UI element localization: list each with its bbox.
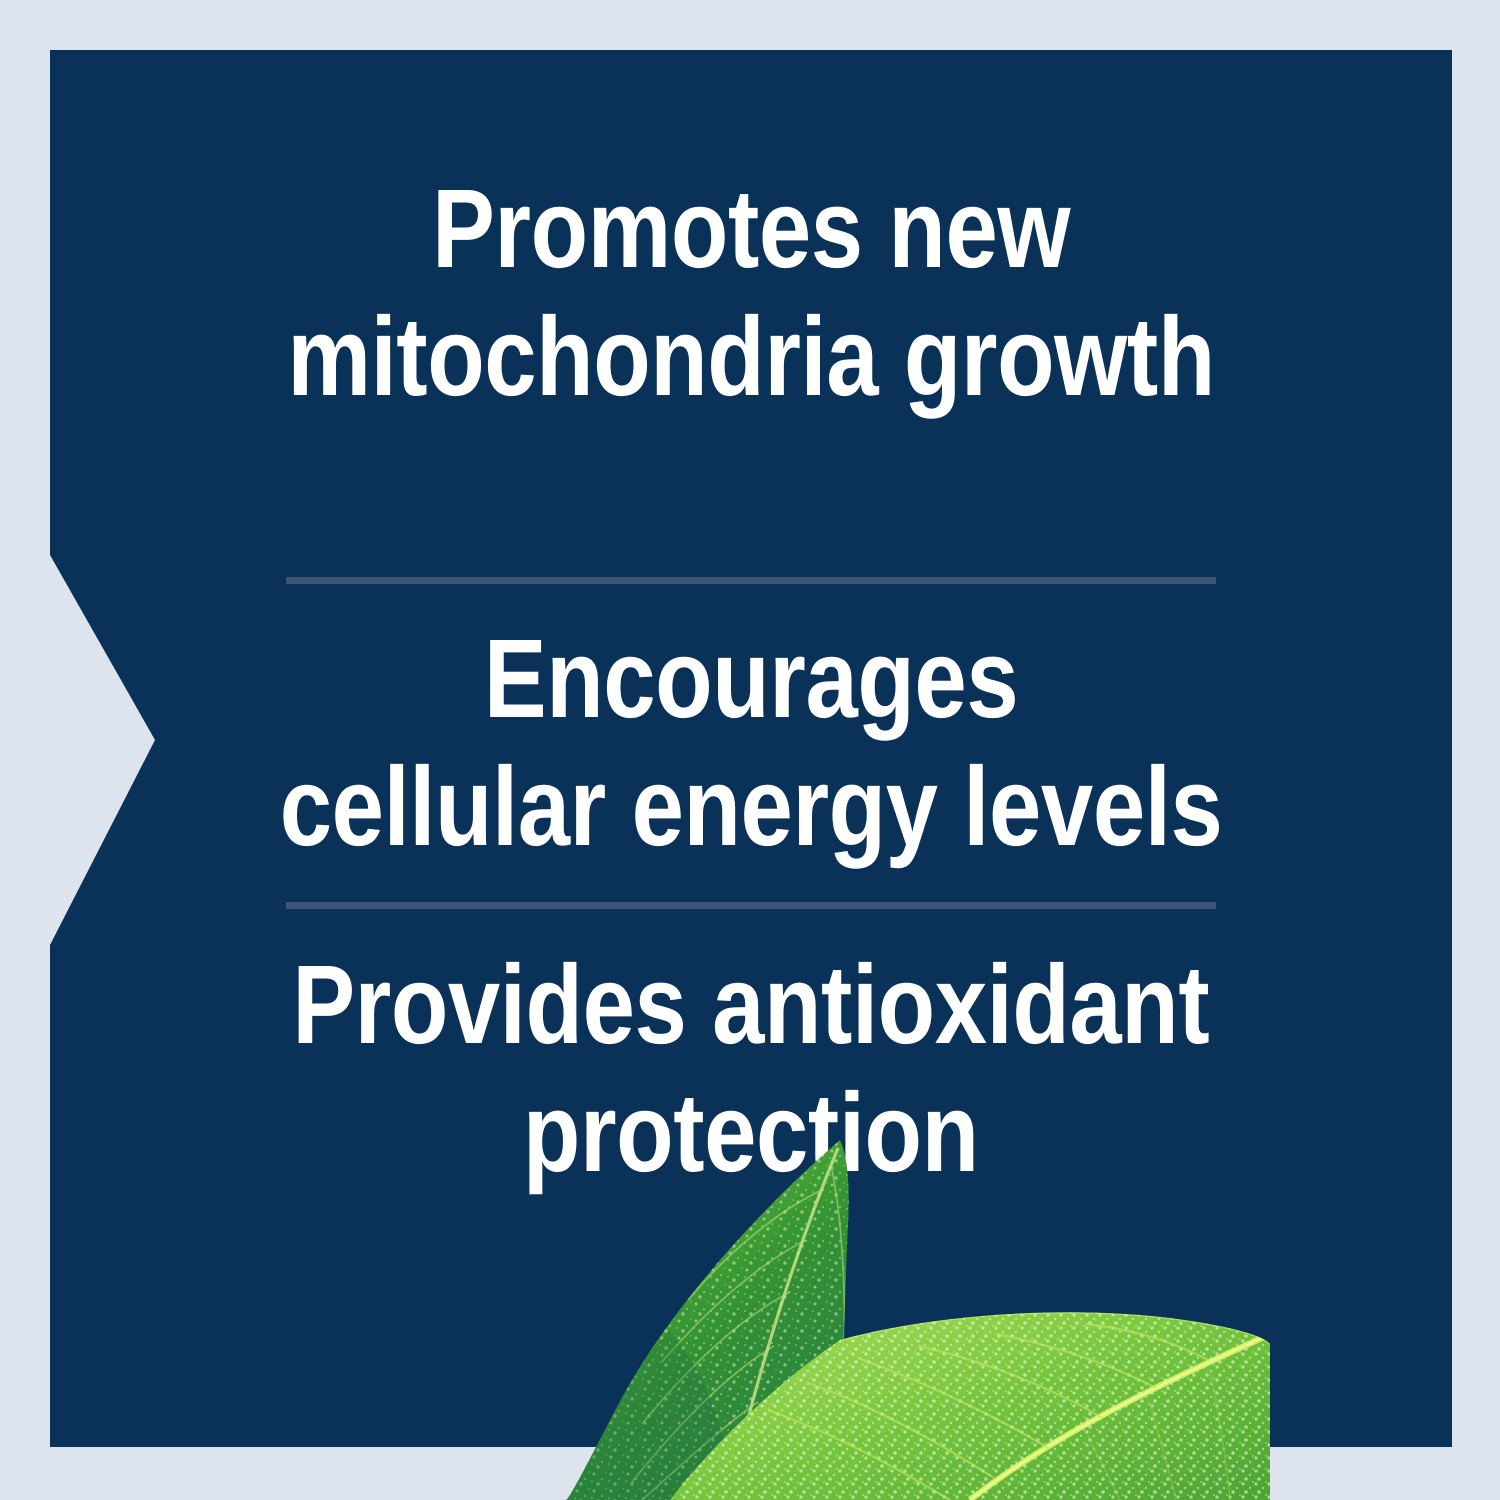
promo-graphic-canvas: Promotes new mitochondria growth Encoura…: [0, 0, 1500, 1500]
benefits-list: Promotes new mitochondria growth Encoura…: [50, 50, 1452, 1220]
benefit-1-text: Promotes new mitochondria growth: [287, 165, 1215, 420]
divider-2: [286, 902, 1216, 909]
benefit-3-text: Provides antioxidant protection: [293, 941, 1210, 1196]
divider-1-wrap: [105, 569, 1397, 592]
benefit-2-text: Encourages cellular energy levels: [280, 615, 1223, 870]
divider-2-wrap: [105, 894, 1397, 917]
benefit-item-2: Encourages cellular energy levels: [105, 592, 1397, 895]
divider-1: [286, 577, 1216, 584]
benefit-item-3: Provides antioxidant protection: [105, 917, 1397, 1220]
benefit-item-1: Promotes new mitochondria growth: [105, 50, 1397, 569]
